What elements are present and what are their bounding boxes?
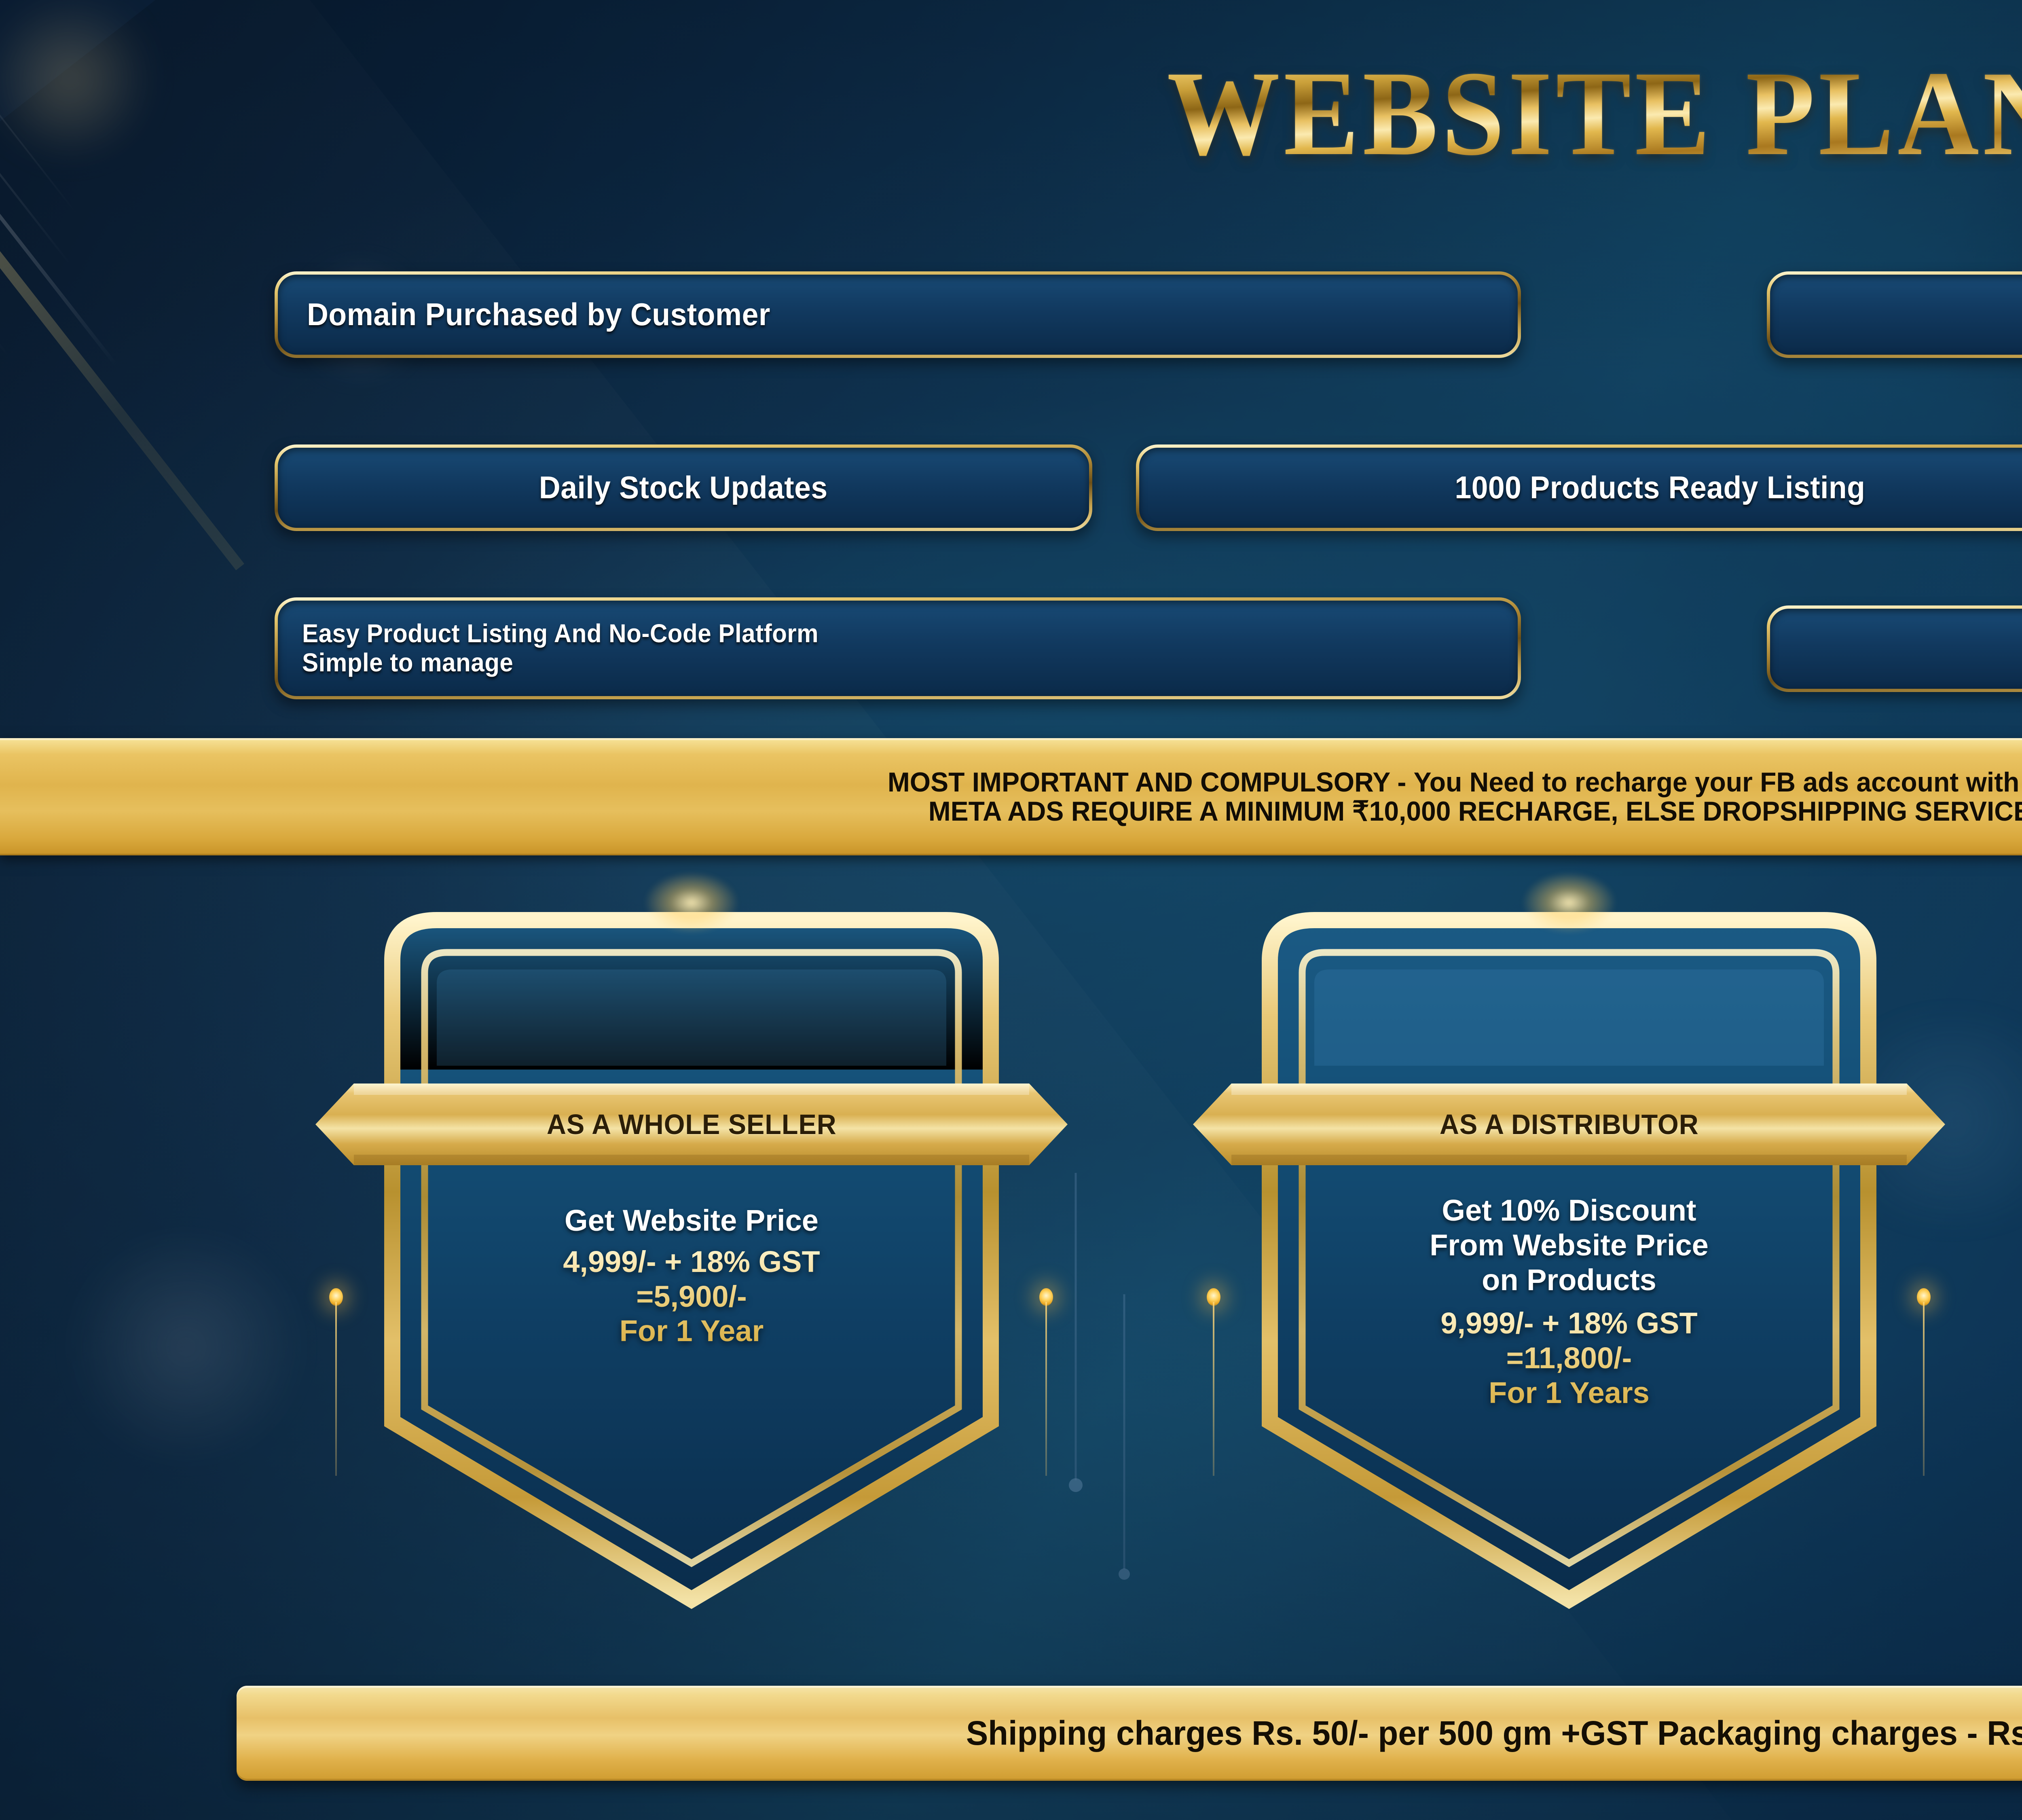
plan-ribbon-label: AS A WHOLE SELLER [547,1108,837,1141]
pill-inner-surface: Order Management Panel [1770,275,2022,355]
plan-description: Get Website Price [565,1203,819,1238]
feature-pill-products-listing[interactable]: 1000 Products Ready Listing [1136,445,2022,531]
notice-line-2: META ADS REQUIRE A MINIMUM ₹10,000 RECHA… [929,797,2022,826]
feature-pill-google-ads-meta[interactable]: Google Ads & Meta Pixel Integration [1767,606,2022,692]
plan-price: 4,999/- + 18% GST =5,900/- For 1 Year [563,1244,820,1348]
shipping-charges-label: Shipping charges Rs. 50/- per 500 gm +GS… [966,1714,2022,1753]
page-title-area: WEBSITE PLAN [0,53,2022,174]
plan-body-whole-seller: Get Website Price 4,999/- + 18% GST =5,9… [412,1203,971,1348]
feature-pill-order-management[interactable]: Order Management Panel [1767,272,2022,358]
shield-top-glow [645,872,738,933]
notice-line-1-strong: MOST IMPORTANT AND COMPULSORY - [888,767,1414,798]
pill-inner-surface: Google Ads & Meta Pixel Integration [1770,609,2022,689]
plan-ribbon-label: AS A DISTRIBUTOR [1440,1108,1699,1141]
pill-inner-surface: 1000 Products Ready Listing [1139,448,2022,528]
shield-top-glow [1523,872,1616,933]
feature-pill-easy-product-listing[interactable]: Easy Product Listing And No-Code Platfor… [275,598,1521,699]
page-title: WEBSITE PLAN [1167,53,2022,174]
shipping-charges-banner: Shipping charges Rs. 50/- per 500 gm +GS… [237,1686,2022,1781]
feature-label: Easy Product Listing And No-Code Platfor… [302,619,819,677]
plan-ribbon-whole-seller: AS A WHOLE SELLER [315,1078,1068,1171]
notice-line-1-rest: You Need to recharge your FB ads account… [1414,767,2022,798]
pill-inner-surface: Easy Product Listing And No-Code Platfor… [278,601,1518,696]
feature-label: 1000 Products Ready Listing [1455,471,1865,504]
feature-label: Domain Purchased by Customer [307,298,770,331]
pill-inner-surface: Daily Stock Updates [278,448,1089,528]
plan-card-whole-seller[interactable]: AS A WHOLE SELLER Get Website Price 4,99… [344,896,1039,1620]
plan-price: 9,999/- + 18% GST =11,800/- For 1 Years [1440,1306,1698,1410]
plan-ribbon-distributor: AS A DISTRIBUTOR [1193,1078,1945,1171]
plan-body-distributor: Get 10% Discount From Website Price on P… [1282,1193,1856,1410]
pill-inner-surface: Domain Purchased by Customer [278,275,1518,355]
feature-label: Daily Stock Updates [539,471,828,504]
plan-card-distributor[interactable]: AS A DISTRIBUTOR Get 10% Discount From W… [1221,896,1917,1620]
plan-description: Get 10% Discount From Website Price on P… [1430,1193,1709,1297]
feature-pill-daily-stock[interactable]: Daily Stock Updates [275,445,1092,531]
compulsory-notice-banner: MOST IMPORTANT AND COMPULSORY - You Need… [0,738,2022,855]
feature-pill-domain-purchased[interactable]: Domain Purchased by Customer [275,272,1521,358]
notice-line-1: MOST IMPORTANT AND COMPULSORY - You Need… [888,768,2022,797]
